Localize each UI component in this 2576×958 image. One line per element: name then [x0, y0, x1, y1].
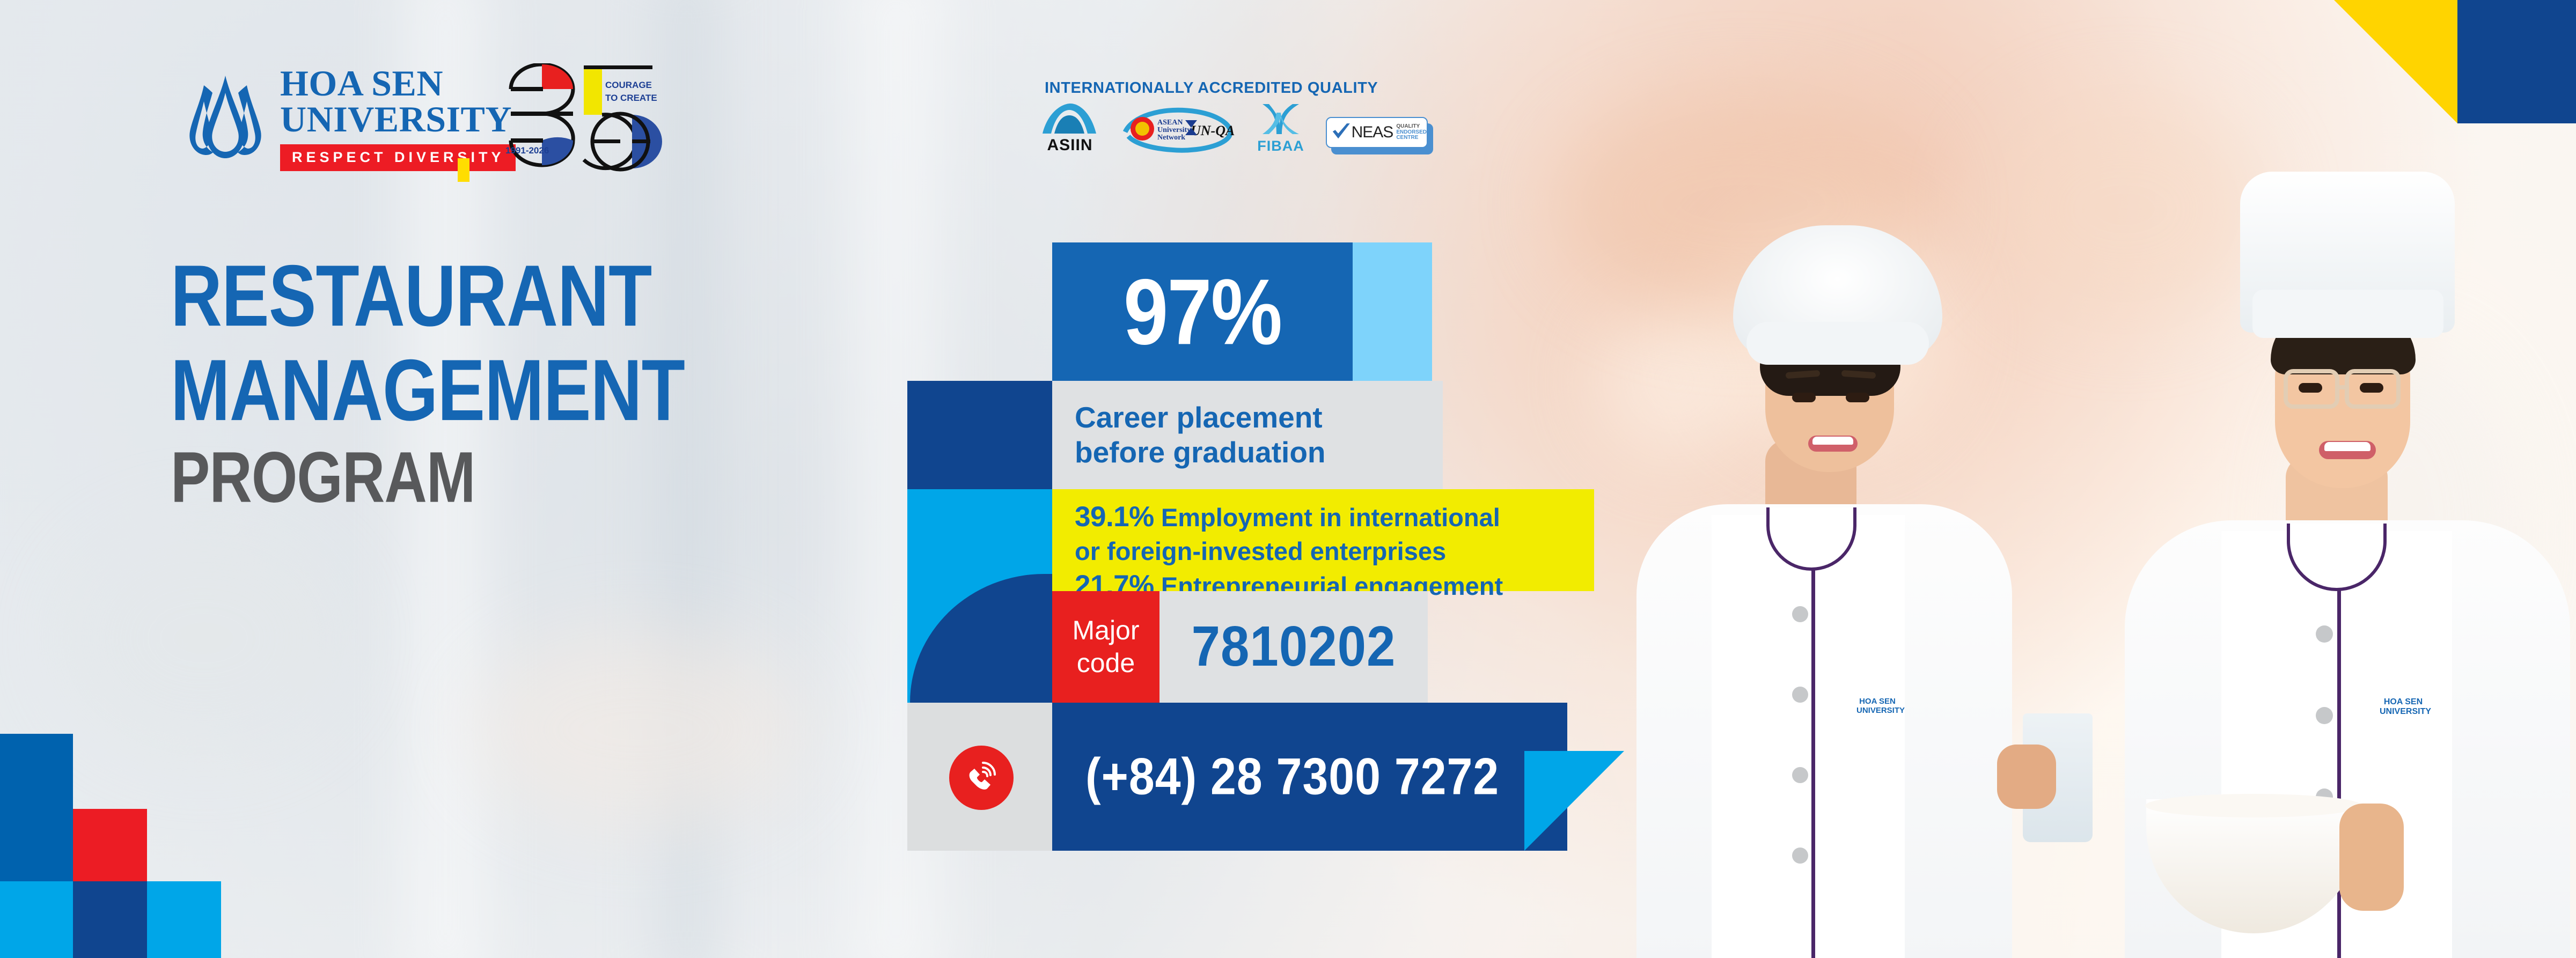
headline-line-1: RESTAURANT	[171, 251, 685, 342]
aun-qa-icon: ASEAN University Network UN-QA	[1123, 105, 1236, 154]
bottom-left-cyan-block-1	[0, 881, 73, 958]
bottom-left-blue-block	[0, 734, 73, 881]
bottom-left-cyan-block-2	[147, 881, 221, 958]
phone-bar[interactable]: (+84) 28 7300 7272	[1052, 703, 1567, 851]
placement-percent-box: 97%	[1052, 242, 1353, 381]
bottom-left-red-block	[73, 809, 147, 881]
major-code-value-box: 7810202	[1159, 591, 1428, 703]
svg-text:ASEAN: ASEAN	[1157, 119, 1183, 127]
major-code-label-line2: code	[1077, 647, 1135, 680]
accreditation-block: INTERNATIONALLY ACCREDITED QUALITY ASIIN…	[1038, 79, 1433, 154]
placement-accent-strip	[1353, 242, 1432, 381]
bottom-left-navy-block	[73, 881, 147, 958]
decor-cyan-triangle	[1524, 751, 1624, 851]
neas-check-icon	[1331, 122, 1352, 143]
hand-holding-glass	[1997, 745, 2056, 809]
phone-icon-badge[interactable]	[949, 746, 1014, 810]
hand-holding-bowl	[2339, 804, 2404, 911]
employment-stat-row-2: or foreign-invested enterprises	[1075, 535, 1594, 568]
anniversary-35-logo: 1991-2026 COURAGE TO CREATE	[499, 63, 676, 176]
top-right-yellow-triangle	[2334, 0, 2457, 123]
svg-text:University: University	[1157, 126, 1191, 134]
headline-line-2: MANAGEMENT	[171, 345, 685, 436]
headline-line-3: PROGRAM	[171, 440, 685, 515]
anniversary-motto-line2: TO CREATE	[605, 93, 657, 103]
university-name-line2: UNIVERSITY	[280, 101, 516, 137]
anniversary-years: 1991-2026	[505, 145, 549, 156]
background-bokeh-6	[472, 633, 805, 826]
accreditation-logo-fibaa: FIBAA	[1257, 103, 1304, 154]
asiin-arch-icon	[1038, 102, 1102, 136]
major-code-label-box: Major code	[1052, 591, 1159, 703]
career-placement-line1: Career placement	[1075, 400, 1443, 435]
bowl-rim	[2145, 794, 2362, 817]
accreditation-logo-asiin: ASIIN	[1038, 102, 1102, 154]
employment-international-pct: 39.1%	[1075, 501, 1154, 533]
career-placement-line2: before graduation	[1075, 435, 1443, 470]
employment-stat-row-1: 39.1% Employment in international	[1075, 499, 1594, 535]
student-chef-left: HOA SENUNIVERSITY	[1631, 161, 2039, 958]
major-code-value: 7810202	[1192, 615, 1396, 680]
top-right-navy-block	[2457, 0, 2576, 123]
university-name-line1: HOA SEN	[280, 65, 516, 101]
program-headline: RESTAURANT MANAGEMENT PROGRAM	[171, 251, 685, 502]
phone-ringing-icon	[964, 760, 999, 795]
hoa-sen-university-logo: HOA SEN UNIVERSITY RESPECT DIVERSITY	[182, 65, 516, 171]
university-tagline: RESPECT DIVERSITY	[280, 144, 516, 171]
logo-yellow-accent	[458, 158, 469, 182]
anniversary-motto-line1: COURAGE	[605, 80, 652, 90]
employment-stats-box: 39.1% Employment in international or for…	[1052, 489, 1594, 591]
major-code-label-line1: Major	[1072, 614, 1139, 647]
decor-navy-left	[907, 381, 1052, 489]
neas-label: NEAS	[1352, 123, 1393, 142]
fibaa-x-icon	[1257, 103, 1304, 136]
university-wordmark: HOA SEN UNIVERSITY RESPECT DIVERSITY	[280, 65, 516, 171]
svg-text:Network: Network	[1157, 134, 1185, 142]
employment-international-text: Employment in international	[1154, 503, 1500, 532]
accreditation-logo-neas: NEAS QUALITY ENDORSED CENTRE	[1326, 117, 1433, 154]
accreditation-logos: ASIIN ASEAN University Network UN-QA	[1038, 102, 1433, 154]
placement-percent-value: 97%	[1124, 265, 1281, 358]
asiin-label: ASIIN	[1038, 136, 1102, 154]
phone-number: (+84) 28 7300 7272	[1085, 747, 1499, 807]
fibaa-label: FIBAA	[1257, 138, 1304, 154]
svg-text:UN-QA: UN-QA	[1191, 123, 1235, 138]
accreditation-logo-aun-qa: ASEAN University Network UN-QA	[1123, 105, 1236, 154]
career-placement-box: Career placement before graduation	[1052, 381, 1443, 489]
accreditation-title: INTERNATIONALLY ACCREDITED QUALITY	[1045, 79, 1433, 97]
logo-lockup: HOA SEN UNIVERSITY RESPECT DIVERSITY	[182, 65, 516, 171]
background-bokeh-5	[64, 526, 343, 751]
neas-sub-line3: CENTRE	[1396, 135, 1427, 141]
banner-root: HOA SENUNIVERSITY HOA SENUNIVERSITY	[0, 0, 2576, 958]
lotus-flame-icon	[182, 73, 268, 164]
